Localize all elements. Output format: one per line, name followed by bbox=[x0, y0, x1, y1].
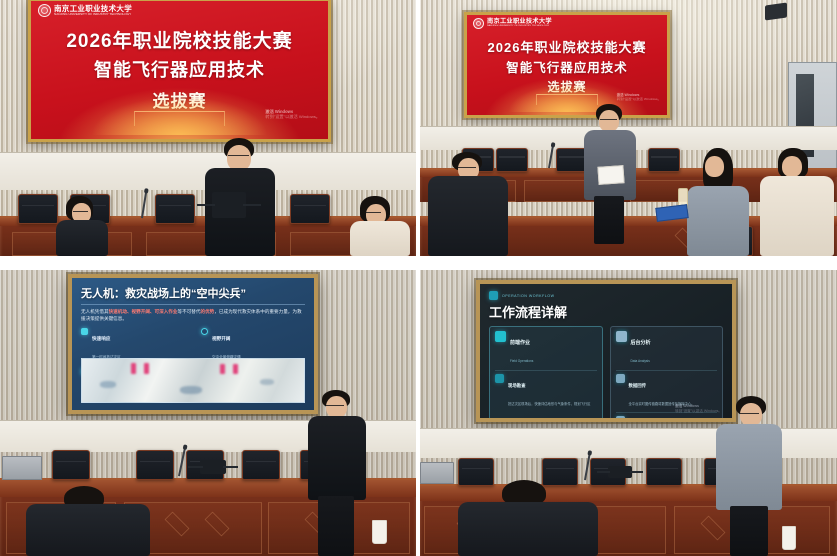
glasses-icon bbox=[600, 119, 617, 121]
chair bbox=[155, 194, 195, 224]
photo-detail bbox=[220, 364, 225, 374]
head bbox=[599, 110, 619, 132]
held-paper bbox=[597, 165, 624, 185]
photo-top-left: 南京工业职业技术大学 NANJING UNIVERSITY OF INDUSTR… bbox=[0, 0, 416, 256]
ceiling-speaker bbox=[765, 2, 787, 20]
glasses-icon bbox=[740, 413, 759, 415]
university-seal-icon bbox=[38, 4, 51, 17]
data-analysis-icon bbox=[616, 331, 627, 342]
step-number-icon bbox=[495, 374, 504, 383]
laptop bbox=[420, 462, 454, 484]
drone-on-desk bbox=[608, 466, 632, 478]
disaster-aerial-photo bbox=[81, 358, 305, 403]
watermark-line-1: 激活 Windows bbox=[265, 109, 320, 114]
chair bbox=[52, 450, 90, 480]
seated-attendee-right-tr bbox=[760, 148, 837, 256]
drone-device bbox=[212, 192, 246, 218]
para-highlight: 快速机动、视野开阔、可深入作业 bbox=[109, 309, 178, 314]
torso bbox=[760, 176, 834, 256]
feature-title: 视野开阔 bbox=[212, 336, 230, 341]
presenter-workflow bbox=[716, 396, 786, 556]
photo-bottom-right: OPERATION WORKFLOW 工作流程详解 前端作业 Field Ope… bbox=[420, 270, 837, 556]
chair bbox=[290, 194, 330, 224]
photo-detail bbox=[100, 381, 116, 388]
chair bbox=[648, 148, 680, 172]
chair bbox=[136, 450, 174, 480]
torso bbox=[458, 502, 598, 556]
column-title-cn: 后台分析 bbox=[631, 340, 651, 346]
torso bbox=[428, 176, 508, 256]
ring-icon bbox=[201, 328, 208, 335]
torso bbox=[308, 416, 366, 500]
windows-watermark-br: 激活 Windows 转到"设置"以激活 Windows。 bbox=[675, 404, 722, 413]
legs bbox=[318, 496, 354, 556]
photo-top-right: 南京工业职业技术大学 NANJING UNIVERSITY OF INDUSTR… bbox=[420, 0, 837, 256]
glasses-icon bbox=[73, 211, 88, 213]
head bbox=[782, 156, 802, 177]
torso bbox=[716, 424, 782, 510]
student-speaker bbox=[583, 104, 637, 244]
column-header: 前端作业 Field Operations bbox=[495, 331, 597, 367]
drone-on-desk bbox=[200, 460, 226, 474]
photo-detail bbox=[233, 364, 238, 374]
competition-banner-tl: 南京工业职业技术大学 NANJING UNIVERSITY OF INDUSTR… bbox=[28, 0, 331, 142]
university-seal-icon bbox=[473, 18, 484, 29]
photo-detail bbox=[260, 379, 274, 385]
foreground-attendee-bl bbox=[26, 486, 150, 556]
photo-bottom-left: 无人机：救灾战场上的“空中尖兵” 无人机凭借其快速机动、视野开阔、可深入作业等不… bbox=[0, 270, 416, 556]
glasses-icon bbox=[458, 167, 476, 169]
banner-line-2: 智能飞行器应用技术 bbox=[31, 56, 328, 82]
slide-divider bbox=[81, 304, 305, 305]
para-highlight: 的优势 bbox=[200, 309, 214, 314]
banner-skyline-graphic bbox=[84, 93, 274, 134]
seated-attendee-right bbox=[348, 196, 412, 256]
photo-detail bbox=[144, 363, 149, 374]
presenter-rescue bbox=[308, 390, 370, 556]
head bbox=[705, 156, 724, 177]
windows-watermark-tr: 激活 Windows 转到"设置"以激活 Windows。 bbox=[617, 93, 661, 102]
legs bbox=[594, 196, 624, 244]
university-name-en: NANJING UNIVERSITY OF INDUSTRY TECHNOLOG… bbox=[487, 26, 552, 28]
workflow-step: 现场勘查 抵达灾区现场后，快速评估地形与气象条件，规划飞行区域。 bbox=[495, 370, 597, 422]
torso bbox=[26, 504, 150, 556]
slide-eyebrow-text: OPERATION WORKFLOW bbox=[502, 294, 554, 298]
slide-workflow: OPERATION WORKFLOW 工作流程详解 前端作业 Field Ope… bbox=[480, 284, 732, 418]
photo-collage: 南京工业职业技术大学 NANJING UNIVERSITY OF INDUSTR… bbox=[0, 0, 837, 556]
chair bbox=[242, 450, 280, 480]
university-logo-tl: 南京工业职业技术大学 NANJING UNIVERSITY OF INDUSTR… bbox=[38, 4, 132, 17]
banner-line-2: 智能飞行器应用技术 bbox=[467, 57, 667, 76]
legs bbox=[730, 506, 768, 556]
workflow-column-field: 前端作业 Field Operations 现场勘查 抵达灾区现场后，快速评估地… bbox=[489, 326, 603, 422]
seated-attendee-left bbox=[52, 196, 114, 256]
seated-judge-left bbox=[428, 152, 514, 256]
torso bbox=[687, 186, 749, 256]
wall-display-workflow: OPERATION WORKFLOW 工作流程详解 前端作业 Field Ope… bbox=[476, 280, 736, 422]
university-logo-tr: 南京工业职业技术大学 NANJING UNIVERSITY OF INDUSTR… bbox=[473, 18, 552, 29]
step-title: 现场勘查 bbox=[508, 383, 526, 388]
paper-cup bbox=[372, 520, 387, 544]
slide-workflow-title: 工作流程详解 bbox=[489, 302, 723, 321]
para-part: 等不可替代 bbox=[178, 309, 201, 314]
para-part: 无人机凭借其 bbox=[81, 309, 109, 314]
field-ops-icon bbox=[495, 331, 506, 342]
photo-detail bbox=[131, 363, 136, 374]
watermark-line-2: 转到"设置"以激活 Windows。 bbox=[675, 409, 722, 413]
photo-detail bbox=[180, 386, 202, 394]
slide-eyebrow: OPERATION WORKFLOW bbox=[489, 291, 723, 300]
competition-banner-tr: 南京工业职业技术大学 NANJING UNIVERSITY OF INDUSTR… bbox=[464, 12, 670, 118]
column-title-en: Data Analysis bbox=[631, 359, 650, 363]
column-title-cn: 前端作业 bbox=[510, 340, 530, 346]
torso bbox=[56, 220, 108, 256]
glasses-icon bbox=[228, 155, 249, 157]
slide-rescue-title: 无人机：救灾战场上的“空中尖兵” bbox=[81, 285, 305, 301]
torso bbox=[350, 221, 410, 256]
seated-attendee-ponytail bbox=[685, 148, 753, 256]
glasses-icon bbox=[326, 405, 344, 407]
banner-line-1: 2026年职业院校技能大赛 bbox=[467, 37, 667, 56]
watermark-line-2: 转到"设置"以激活 Windows。 bbox=[265, 114, 320, 119]
head bbox=[326, 396, 347, 418]
laptop bbox=[2, 456, 42, 480]
slide-rescue-paragraph: 无人机凭借其快速机动、视野开阔、可深入作业等不可替代的优势，已成为现代救灾体系中… bbox=[81, 309, 305, 322]
watermark-line-1: 激活 Windows bbox=[617, 93, 661, 97]
slide-rescue: 无人机：救灾战场上的“空中尖兵” 无人机凭借其快速机动、视野开阔、可深入作业等不… bbox=[72, 278, 314, 410]
step-number-icon bbox=[616, 416, 625, 422]
student-with-drone bbox=[200, 138, 280, 256]
workflow-icon bbox=[489, 291, 498, 300]
windows-watermark-tl: 激活 Windows 转到"设置"以激活 Windows。 bbox=[265, 109, 320, 120]
chair bbox=[646, 458, 682, 486]
step-title: 数据回传 bbox=[629, 383, 647, 388]
glasses-icon bbox=[366, 212, 381, 214]
workflow-step: AI辅助识别 智能算法自动识别受困人员与生命迹象，标记可疑坐标。 bbox=[616, 412, 718, 422]
foreground-attendee-br bbox=[458, 480, 598, 556]
step-number-icon bbox=[616, 374, 625, 383]
university-name-en: NANJING UNIVERSITY OF INDUSTRY TECHNOLOG… bbox=[54, 13, 132, 16]
watermark-line-1: 激活 Windows bbox=[675, 404, 722, 408]
wall-display-rescue: 无人机：救灾战场上的“空中尖兵” 无人机凭借其快速机动、视野开阔、可深入作业等不… bbox=[68, 274, 318, 414]
drone-icon bbox=[81, 328, 88, 335]
column-header: 后台分析 Data Analysis bbox=[616, 331, 718, 367]
feature-title: 快速响应 bbox=[92, 336, 110, 341]
step-desc: 抵达灾区现场后，快速评估地形与气象条件，规划飞行区域。 bbox=[508, 402, 590, 422]
banner-line-1: 2026年职业院校技能大赛 bbox=[31, 26, 328, 53]
watermark-line-2: 转到"设置"以激活 Windows。 bbox=[617, 97, 661, 101]
column-title-en: Field Operations bbox=[510, 359, 533, 363]
